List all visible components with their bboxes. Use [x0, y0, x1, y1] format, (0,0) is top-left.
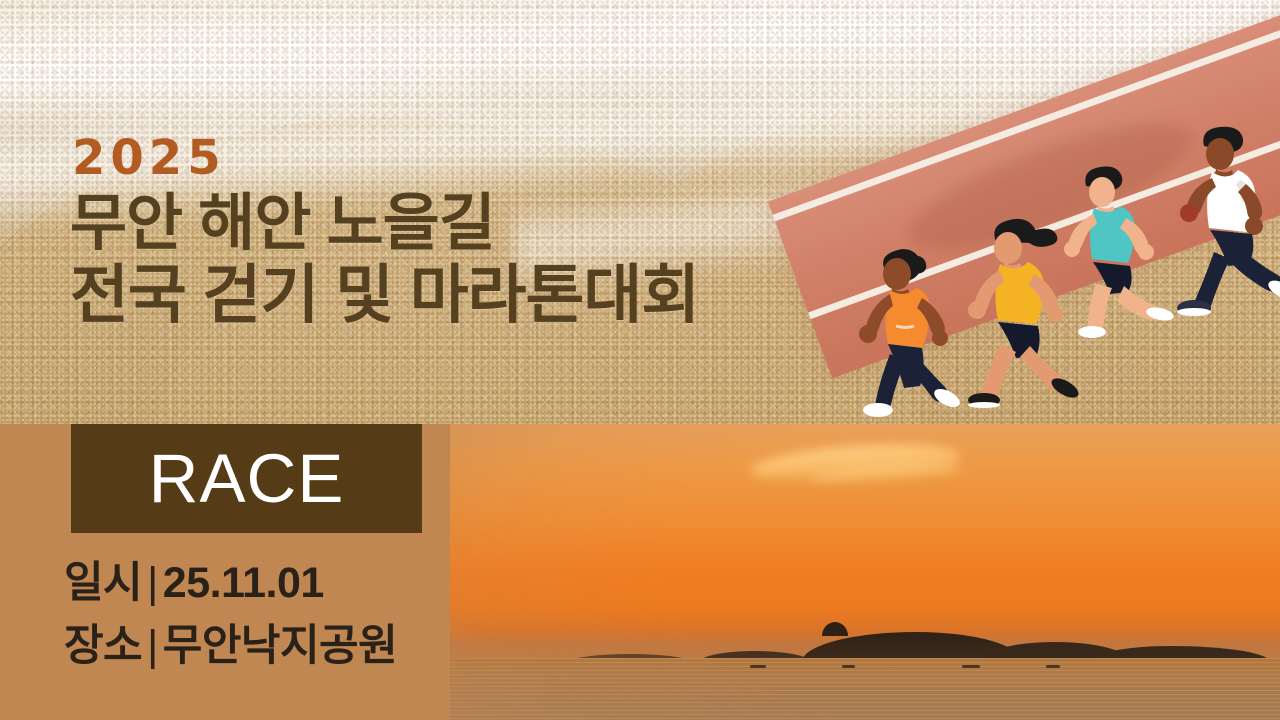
poster-year: 2025	[72, 134, 699, 182]
info-row-date: 일시|25.11.01	[64, 552, 397, 615]
info-row-place: 장소|무안낙지공원	[64, 615, 397, 678]
info-date-label: 일시	[64, 559, 142, 607]
race-badge-label: RACE	[149, 444, 345, 513]
info-place-label: 장소	[64, 622, 142, 670]
runner-figure-4	[1168, 122, 1280, 317]
info-place-value: 무안낙지공원	[163, 622, 397, 670]
info-place-separator: |	[142, 622, 163, 670]
sunset-seascape-photo	[450, 424, 1280, 720]
boat-4	[1046, 665, 1060, 668]
info-date-value: 25.11.01	[163, 559, 324, 607]
bottom-info-panel: RACE 일시|25.11.01 장소|무안낙지공원	[0, 424, 1280, 720]
boat-2	[842, 665, 855, 668]
poster-title-line-2: 전국 걷기 및 마라톤대회	[70, 260, 699, 330]
boat-3	[962, 665, 980, 668]
event-info-list: 일시|25.11.01 장소|무안낙지공원	[64, 552, 397, 678]
race-badge: RACE	[71, 424, 422, 533]
poster-root: 2025 무안 해안 노을길 전국 걷기 및 마라톤대회 RACE 일	[0, 0, 1280, 720]
island-peak	[822, 622, 848, 636]
title-block: 2025 무안 해안 노을길 전국 걷기 및 마라톤대회	[70, 134, 699, 331]
sea-shimmer	[450, 658, 1280, 720]
info-date-separator: |	[142, 559, 163, 607]
poster-title-line-1: 무안 해안 노을길	[70, 190, 699, 258]
boat-1	[750, 665, 766, 668]
